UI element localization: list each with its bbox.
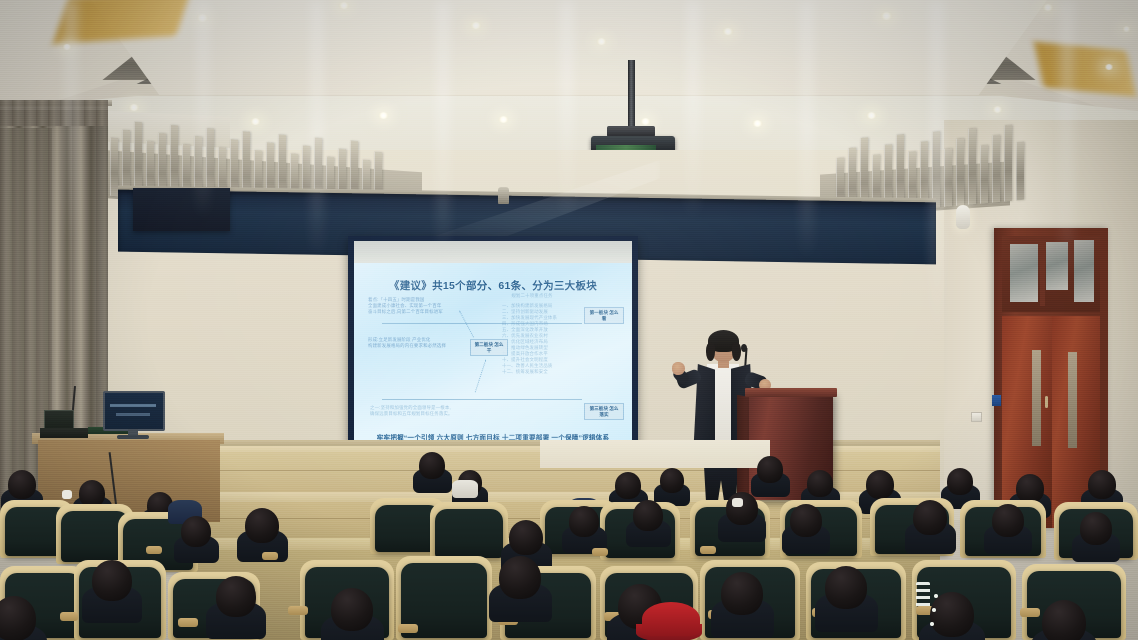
decorative-slat (1016, 142, 1024, 201)
audience-member-head (8, 470, 36, 499)
seat-armrest (60, 612, 78, 621)
monitor-content-line-1 (110, 404, 156, 407)
audience-member-head (992, 504, 1024, 537)
podium-microphone-head (741, 344, 747, 352)
hair-clip-accessory (916, 582, 930, 608)
auditorium-seat[interactable] (430, 502, 508, 560)
audience-member-head (569, 506, 599, 537)
podium-top-surface (745, 388, 837, 397)
hair-clip-bead (934, 594, 938, 598)
wall-mounted-display (133, 188, 230, 231)
wall-sconce-light (956, 205, 970, 229)
audience-member-head (1016, 474, 1044, 503)
projector-mount-pole (628, 60, 635, 132)
ceiling-downlight (378, 112, 389, 119)
transom-glass-3 (1074, 240, 1094, 302)
ceiling-downlight (752, 120, 763, 127)
audience-member-head (866, 470, 894, 499)
rear-wall-patch (540, 440, 770, 468)
slide-block-label-2: 第二板块 怎么干 (470, 339, 508, 356)
audience-member-head (660, 468, 684, 493)
audience-member-head (930, 592, 974, 637)
decorative-slat (992, 135, 1000, 203)
hair-clip-bead (932, 608, 936, 612)
audience-member-head (790, 504, 822, 537)
audience-member-head (1042, 600, 1086, 640)
control-monitor (103, 391, 165, 431)
av-equipment-base (40, 428, 88, 438)
seat-armrest (146, 546, 162, 554)
red-cap (642, 602, 700, 636)
seat-armrest (700, 546, 716, 554)
lecture-hall-photo: 《建议》共15个部分、61条、分为三大板块 着点:「十四五」时期是我国 全面建成… (0, 0, 1138, 640)
projection-screen: 《建议》共15个部分、61条、分为三大板块 着点:「十四五」时期是我国 全面建成… (354, 263, 632, 451)
audience-member-head (825, 566, 867, 609)
ceiling-downlight (640, 118, 651, 125)
audience-member-head (181, 516, 211, 547)
transom-mullion (1040, 240, 1045, 306)
slide-left-block-1: 着点:「十四五」时期是我国 全面建成小康社会、实现第一个百年 奋斗目标之后,向第… (368, 297, 460, 315)
seat-armrest (262, 552, 278, 560)
audience-member-head (79, 480, 105, 507)
light-switch[interactable] (971, 412, 982, 422)
monitor-content-line-2 (116, 413, 150, 416)
audience-member-head (245, 508, 279, 543)
transom-glass-2 (1046, 242, 1068, 290)
audience-member-head (947, 468, 973, 495)
ceiling-downlight (880, 12, 893, 20)
seat-armrest (398, 624, 418, 633)
audience-member-head (499, 556, 541, 599)
audience-member-head (913, 500, 947, 535)
door-panel-inlay-left (1032, 350, 1041, 446)
ceiling-camera (498, 187, 509, 204)
slide-connector-1 (459, 311, 474, 338)
slide-title: 《建议》共15个部分、61条、分为三大板块 (354, 278, 632, 293)
audience-face-mask (732, 498, 743, 507)
audience-member-head (757, 456, 783, 483)
decorative-slat (110, 138, 118, 197)
decorative-slat (1004, 125, 1012, 202)
audience-member-head (726, 492, 758, 525)
slide-connector-2 (475, 360, 486, 393)
audience-face-mask (62, 490, 72, 499)
audience-shirt-white (452, 480, 478, 498)
presenter-hair-right (732, 343, 741, 361)
decorative-slat (968, 128, 976, 205)
ceiling-downlight (866, 112, 877, 119)
decorative-slat (980, 145, 988, 204)
audience-member-head (509, 520, 543, 555)
ceiling-downlight (1122, 26, 1131, 32)
presenter-hair-left (706, 343, 715, 361)
slide-block-label-1: 第一板块 怎么看 (584, 307, 624, 324)
transom-glass-1 (1010, 244, 1038, 302)
audience-member-head (807, 470, 833, 497)
audience-member-head (721, 572, 763, 615)
slide-left-block-2: 形成:立足新发展阶段 产业优化 构建新发展格局的内在要求和必然选择 (368, 337, 464, 349)
audience-member-head (92, 560, 132, 601)
slide-divider-bottom (382, 399, 582, 400)
audience-member-head (633, 500, 663, 531)
ceiling-downlight (498, 116, 509, 123)
audience-member-head (216, 576, 256, 617)
audience-member-head (615, 472, 641, 499)
door-panel-inlay-right (1068, 352, 1077, 448)
monitor-base (117, 435, 149, 439)
hair-clip-bead (930, 622, 934, 626)
presenter-hand-left (672, 362, 685, 375)
audience-member-head (1080, 512, 1112, 545)
audience-member-head (331, 588, 373, 631)
slide-bottom-note: 之一:坚持和加强党的全面领导是一根本, 确保远景目标和五年规划目标任务落实。 (370, 405, 520, 417)
ceiling-downlight (196, 14, 209, 22)
wall-notice-sign (992, 395, 1001, 406)
audience-member-head (419, 452, 445, 479)
curtain-pleat-header (0, 100, 108, 126)
ceiling-downlight (992, 106, 1003, 113)
decorative-slat (956, 138, 964, 206)
door-handle[interactable] (1045, 396, 1048, 408)
slide-block-label-3: 第三板块 怎么落实 (584, 403, 624, 420)
projection-screen-top-band (354, 241, 632, 265)
seat-backrest (435, 509, 503, 558)
slide-center-heading: 规划二十项重点任务 (472, 293, 592, 299)
seat-armrest (178, 618, 198, 627)
seat-armrest (592, 548, 608, 556)
ceiling-downlight (596, 38, 607, 45)
seat-armrest (1020, 608, 1040, 617)
decorative-slat (932, 131, 940, 208)
seat-armrest (288, 606, 308, 615)
audience-member-head (1088, 470, 1116, 499)
decorative-slat (944, 148, 952, 207)
